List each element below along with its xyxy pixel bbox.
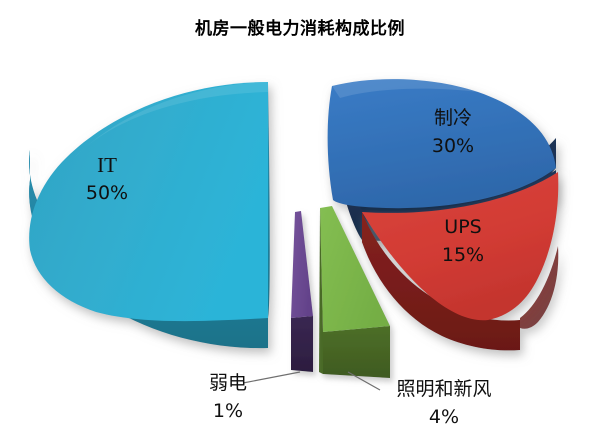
pie-slice-elv[interactable] <box>291 211 313 372</box>
pie-slice-elv-top <box>291 211 313 318</box>
pie-chart-canvas <box>0 0 600 444</box>
chart-title: 机房一般电力消耗构成比例 <box>0 14 600 39</box>
pie-slice-it[interactable] <box>29 82 270 348</box>
pie-slice-it-top <box>29 82 268 321</box>
leader-line-elv <box>243 372 300 383</box>
pie-chart: 机房一般电力消耗构成比例 <box>0 0 600 444</box>
pie-slice-elv-side <box>291 316 313 372</box>
pie-slice-lighting-side <box>323 326 390 378</box>
